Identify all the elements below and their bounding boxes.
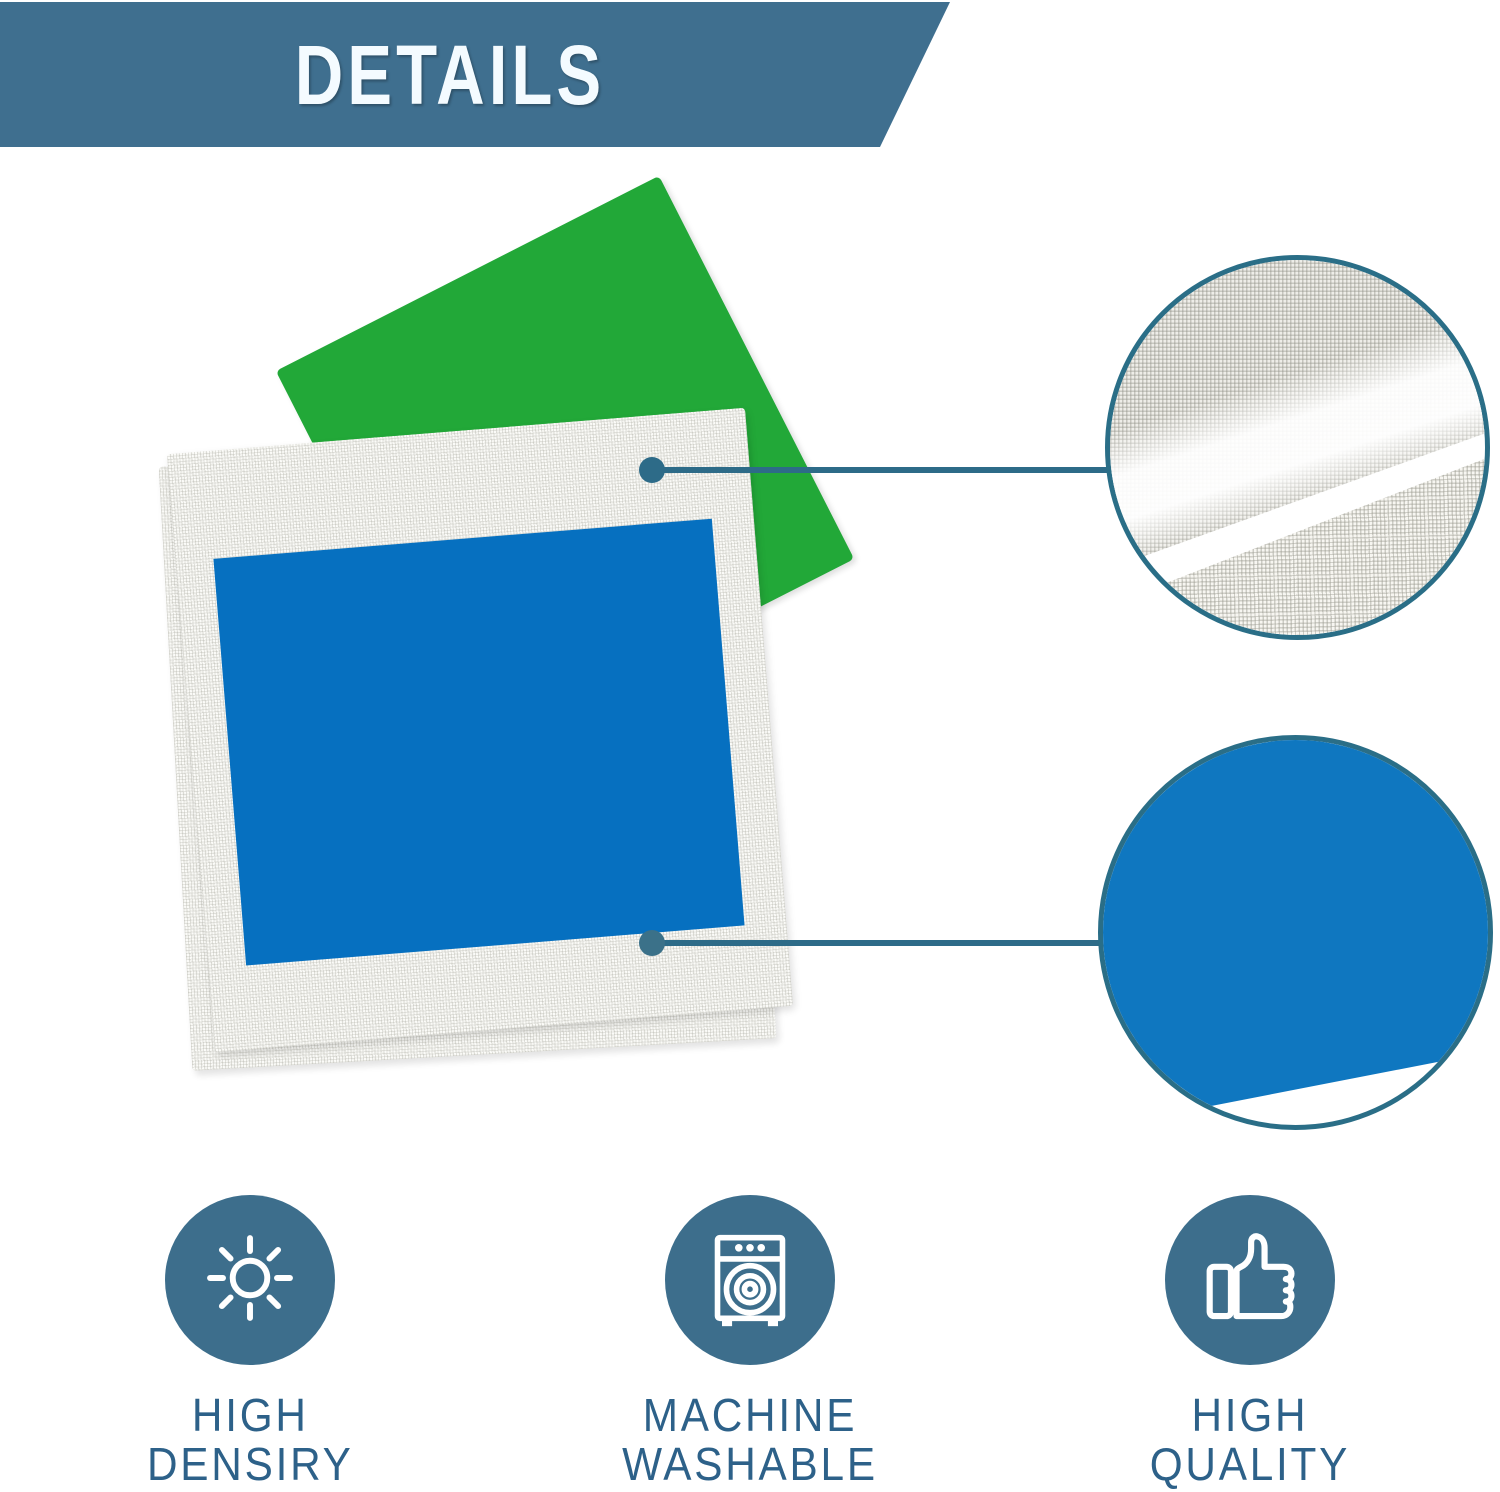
feature-icon-circle bbox=[165, 1195, 335, 1365]
blue-printed-square bbox=[213, 519, 744, 966]
feature-high-density: HIGH DENSIRY bbox=[40, 1195, 460, 1489]
washing-machine-icon bbox=[694, 1222, 806, 1339]
feature-high-quality: HIGH QUALITY bbox=[1040, 1195, 1460, 1489]
banner-title: DETAILS bbox=[90, 0, 810, 150]
feature-label: HIGH DENSIRY bbox=[147, 1391, 354, 1489]
fabric-fold-highlight bbox=[1105, 255, 1490, 640]
thumbs-up-icon bbox=[1194, 1222, 1306, 1339]
leader-dot-blue bbox=[639, 930, 665, 956]
product-photo bbox=[0, 150, 1100, 1190]
sun-icon bbox=[196, 1224, 304, 1337]
blue-print-closeup bbox=[1098, 735, 1493, 1130]
feature-list: HIGH DENSIRY bbox=[0, 1195, 1500, 1492]
leader-line-blue bbox=[652, 940, 1102, 946]
leader-line-fabric bbox=[652, 467, 1107, 473]
feature-icon-circle bbox=[1165, 1195, 1335, 1365]
product-detail-image: DETAILS bbox=[0, 0, 1500, 1492]
details-banner: DETAILS bbox=[0, 0, 960, 152]
fabric-weave-closeup bbox=[1105, 255, 1490, 640]
feature-label: MACHINE WASHABLE bbox=[622, 1391, 878, 1489]
leader-dot-fabric bbox=[639, 457, 665, 483]
white-fabric-sheet-front bbox=[167, 408, 793, 1053]
feature-icon-circle bbox=[665, 1195, 835, 1365]
feature-label: HIGH QUALITY bbox=[1150, 1391, 1350, 1489]
feature-machine-washable: MACHINE WASHABLE bbox=[540, 1195, 960, 1489]
blue-print-corner bbox=[1098, 735, 1493, 1126]
